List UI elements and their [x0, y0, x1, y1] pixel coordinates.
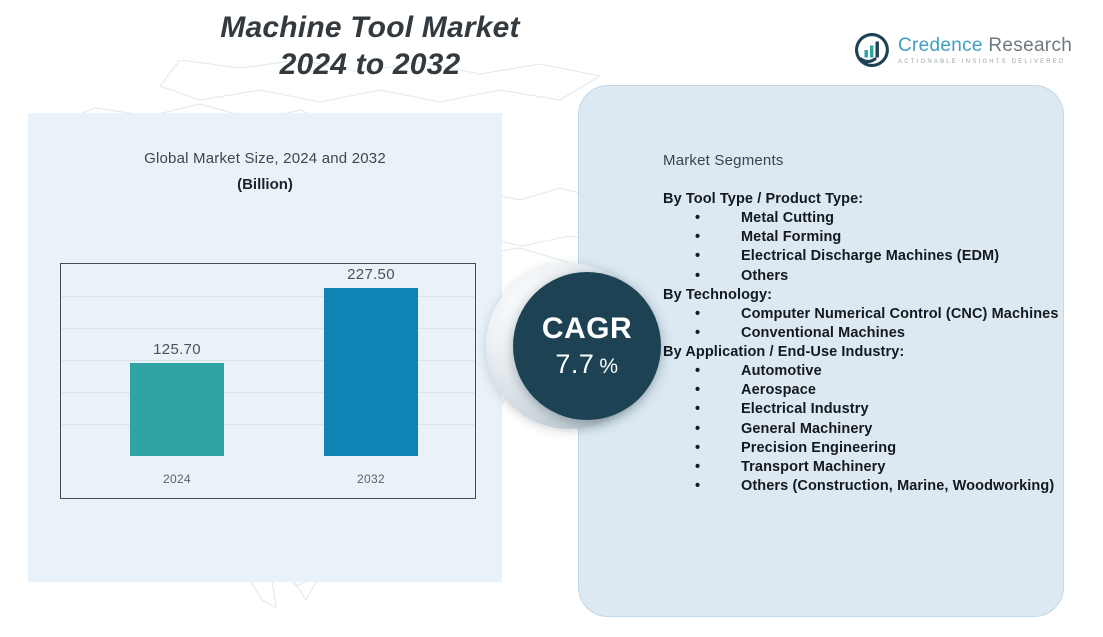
segment-group-list: By Tool Type / Product Type:•Metal Cutti… — [663, 190, 1063, 496]
bullet-icon: • — [695, 477, 700, 496]
bullet-icon: • — [695, 400, 700, 419]
bullet-icon: • — [695, 362, 700, 381]
title-line-2: 2024 to 2032 — [150, 47, 590, 84]
segment-item[interactable]: •Conventional Machines — [663, 324, 1063, 343]
bar-value-label: 125.70 — [153, 341, 201, 358]
chart-title: Global Market Size, 2024 and 2032 — [28, 150, 502, 167]
bullet-icon: • — [695, 439, 700, 458]
segment-item-label: Others (Construction, Marine, Woodworkin… — [663, 477, 1054, 496]
segment-group-heading: By Tool Type / Product Type: — [663, 190, 1063, 209]
segment-item-label: Automotive — [663, 362, 822, 381]
bullet-icon: • — [695, 267, 700, 286]
segment-item[interactable]: •Metal Forming — [663, 228, 1063, 247]
segment-item-label: Computer Numerical Control (CNC) Machine… — [663, 305, 1059, 324]
segment-group-heading: By Technology: — [663, 286, 1063, 305]
segment-item[interactable]: •Transport Machinery — [663, 458, 1063, 477]
cagr-value-row: 7.7 % — [555, 351, 618, 378]
segment-item[interactable]: •Metal Cutting — [663, 209, 1063, 228]
bar-chart: 125.70227.50 20242032 — [60, 263, 476, 499]
logo-name-part2: Research — [988, 35, 1072, 56]
market-segments-content: Market Segments By Tool Type / Product T… — [663, 152, 1063, 496]
chart-plot-area: 125.70227.50 — [61, 264, 475, 456]
bullet-icon: • — [695, 381, 700, 400]
segment-item[interactable]: •Others — [663, 267, 1063, 286]
bullet-icon: • — [695, 324, 700, 343]
bullet-icon: • — [695, 458, 700, 477]
x-axis-label-2032: 2032 — [331, 472, 411, 486]
segment-item-label: Others — [663, 267, 788, 286]
bullet-icon: • — [695, 420, 700, 439]
cagr-badge: CAGR 7.7 % — [513, 272, 661, 420]
bullet-icon: • — [695, 228, 700, 247]
segment-item[interactable]: •Electrical Industry — [663, 400, 1063, 419]
logo-tagline: Actionable Insights Delivered — [898, 59, 1072, 65]
segment-item[interactable]: •Precision Engineering — [663, 439, 1063, 458]
segment-item[interactable]: •Automotive — [663, 362, 1063, 381]
bullet-icon: • — [695, 209, 700, 228]
x-axis-label-2024: 2024 — [137, 472, 217, 486]
segment-item[interactable]: •General Machinery — [663, 420, 1063, 439]
bar-group: 125.70 — [130, 264, 224, 456]
segment-item-label: Metal Cutting — [663, 209, 834, 228]
credence-bar-chart-circle-icon — [855, 33, 889, 67]
chart-unit: (Billion) — [28, 176, 502, 193]
cagr-unit: % — [599, 356, 618, 377]
segments-title: Market Segments — [663, 152, 1063, 169]
segment-item[interactable]: •Computer Numerical Control (CNC) Machin… — [663, 305, 1063, 324]
bullet-icon: • — [695, 247, 700, 266]
segment-item-label: Electrical Discharge Machines (EDM) — [663, 247, 999, 266]
bar-2024[interactable] — [130, 363, 224, 456]
logo-name-part1: Credence — [898, 35, 983, 56]
segment-item[interactable]: •Others (Construction, Marine, Woodworki… — [663, 477, 1063, 496]
logo-wordmark: Credence Research — [898, 36, 1072, 55]
page-title: Machine Tool Market 2024 to 2032 — [150, 10, 590, 83]
title-line-1: Machine Tool Market — [150, 10, 590, 47]
bar-2032[interactable] — [324, 288, 418, 456]
segment-item-label: Aerospace — [663, 381, 816, 400]
segment-item[interactable]: •Electrical Discharge Machines (EDM) — [663, 247, 1063, 266]
segment-item-label: Electrical Industry — [663, 400, 869, 419]
segment-item[interactable]: •Aerospace — [663, 381, 1063, 400]
chart-heading: Global Market Size, 2024 and 2032 (Billi… — [28, 150, 502, 193]
cagr-label: CAGR — [542, 314, 632, 344]
segment-item-label: Metal Forming — [663, 228, 841, 247]
bar-group: 227.50 — [324, 264, 418, 456]
bullet-icon: • — [695, 305, 700, 324]
bar-value-label: 227.50 — [347, 266, 395, 283]
cagr-value: 7.7 — [555, 351, 594, 378]
brand-logo[interactable]: Credence Research Actionable Insights De… — [855, 33, 1072, 67]
segment-group-heading: By Application / End-Use Industry: — [663, 343, 1063, 362]
infographic-canvas: Machine Tool Market 2024 to 2032 Credenc… — [0, 0, 1103, 637]
